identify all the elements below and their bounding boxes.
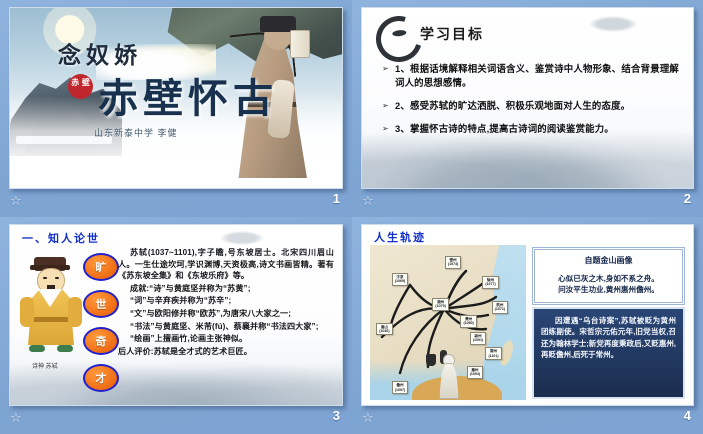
badge-kuang[interactable]: 旷 <box>83 253 119 281</box>
ink-smudge <box>589 16 637 32</box>
map-label[interactable]: 徐州 (1077) <box>482 276 498 289</box>
slide-2-canvas[interactable]: 学习目标 ➢ 1、根据话境解释相关词语含义、鉴赏诗中人物形象、结合背景理解词人的… <box>361 7 694 189</box>
map-year: (1036) <box>379 329 389 333</box>
history-note-box: 因遭遇“乌台诗案”,苏轼被贬为黄州团练副使。宋哲宗元佑元年,旧党当权,召还为翰林… <box>532 307 685 399</box>
bio-achievement-5: “绘画”上擅画竹,论画主张神似。 <box>118 333 334 345</box>
map-year: (1077) <box>485 282 495 286</box>
slide-2-footer: ☆ 2 <box>352 189 703 217</box>
objective-text: 1、根据话境解释相关词语含义、鉴赏诗中人物形象、结合背景理解词人的思想感情。 <box>395 63 679 88</box>
eye-left <box>43 277 47 279</box>
map-label[interactable]: 湖州 (1079) <box>432 298 448 311</box>
map-city: 儋州 <box>396 383 403 387</box>
su-shi-cartoon <box>24 257 78 361</box>
bio-conclusion: 后人评价:苏轼是全才式的艺术巨匠。 <box>118 346 334 358</box>
china-exile-map[interactable]: 汴京 (1069) 密州 (1074) 徐州 (1077) 湖州 (1079) … <box>370 245 526 400</box>
objective-text: 3、掌握怀古诗的特点,提高古诗词的阅读鉴赏能力。 <box>395 123 614 134</box>
map-label[interactable]: 儋州 (1097) <box>392 381 408 394</box>
map-city: 眉山 <box>381 325 388 329</box>
scroll-in-hand <box>290 30 310 58</box>
shoe-left <box>29 345 45 352</box>
slide-4-page-number: 4 <box>684 408 691 423</box>
bullet-arrow-icon: ➢ <box>382 62 389 76</box>
poem-title: 自题金山画像 <box>541 255 676 266</box>
objective-text: 2、感受苏轼的旷达洒脱、积极乐观地面对人生的态度。 <box>395 100 630 111</box>
figure-caption: 诗神 苏轼 <box>32 361 58 370</box>
map-label[interactable]: 密州 (1074) <box>445 256 461 269</box>
slide-2[interactable]: 学习目标 ➢ 1、根据话境解释相关词语含义、鉴赏诗中人物形象、结合背景理解词人的… <box>352 0 703 217</box>
map-city: 黄州 <box>465 317 472 321</box>
bullet-arrow-icon: ➢ <box>382 99 389 113</box>
slide-4[interactable]: 人生轨迹 <box>352 217 703 434</box>
badge-shi[interactable]: 世 <box>83 290 119 318</box>
objectives-list: ➢ 1、根据话境解释相关词语含义、鉴赏诗中人物形象、结合背景理解词人的思想感情。… <box>382 62 679 145</box>
bio-achievement-4: “书法”与黄庭坚、米芾(fú)、蔡襄并称“书法四大家”; <box>118 321 334 333</box>
map-city: 常州 <box>490 349 497 353</box>
list-item: ➢ 2、感受苏轼的旷达洒脱、积极乐观地面对人生的态度。 <box>382 99 679 113</box>
statue-body <box>439 363 459 399</box>
bio-achievement-2: “词”与辛弃疾并称为“苏辛”; <box>118 295 334 307</box>
su-shi-statue <box>438 354 458 398</box>
bullet-arrow-icon: ➢ <box>382 122 389 136</box>
slide-3-canvas[interactable]: 一、知人论世 诗神 苏轼 旷 世 奇 <box>9 224 343 406</box>
title-nian-nu-jiao: 念奴娇 <box>58 36 142 70</box>
map-city: 颍州 <box>474 334 481 338</box>
map-year: (1080) <box>463 321 473 325</box>
slide-1-page-number: 1 <box>333 191 340 206</box>
map-city: 汴京 <box>396 275 403 279</box>
map-label[interactable]: 眉山 (1036) <box>376 323 392 336</box>
map-year: (1071) <box>495 307 505 311</box>
trait-badges: 旷 世 奇 才 <box>83 253 117 401</box>
bio-paragraph: 苏轼(1037~1101),字子瞻,号东坡居士。北宋四川眉山人。一生仕途坎坷,学… <box>118 247 334 282</box>
map-city: 徐州 <box>487 278 494 282</box>
slide-thumbnail-grid: 念奴娇 赤 壁 赤壁怀古 山东新泰中学 李健 ☆ 1 学习目标 ➢ 1、根据话境… <box>0 0 703 434</box>
slide-1-footer: ☆ 1 <box>0 189 352 217</box>
map-city: 密州 <box>449 258 456 262</box>
map-city: 杭州 <box>496 303 503 307</box>
biography-text: 苏轼(1037~1101),字子瞻,号东坡居士。北宋四川眉山人。一生仕途坎坷,学… <box>118 247 334 358</box>
map-label[interactable]: 颍州 (1091) <box>470 332 486 345</box>
poem-line-1: 心似已灰之木,身如不系之舟。 <box>541 273 676 284</box>
slide-4-canvas[interactable]: 人生轨迹 <box>361 224 694 406</box>
map-year: (1101) <box>488 354 498 358</box>
star-icon: ☆ <box>10 194 24 208</box>
shoe-right <box>57 345 73 352</box>
star-icon: ☆ <box>362 194 376 208</box>
map-year: (1091) <box>473 338 483 342</box>
sleeve-left <box>20 297 34 327</box>
map-city: 湖州 <box>437 300 444 304</box>
map-year: (1074) <box>448 262 458 266</box>
list-item: ➢ 1、根据话境解释相关词语含义、鉴赏诗中人物形象、结合背景理解词人的思想感情。 <box>382 62 679 90</box>
slide-3-page-number: 3 <box>333 408 340 423</box>
eye-right <box>55 277 59 279</box>
belt <box>30 317 72 322</box>
list-item: ➢ 3、掌握怀古诗的特点,提高古诗词的阅读鉴赏能力。 <box>382 122 679 136</box>
slide-2-heading: 学习目标 <box>420 24 484 44</box>
history-note-text: 因遭遇“乌台诗案”,苏轼被贬为黄州团练副使。宋哲宗元佑元年,旧党当权,召还为翰林… <box>541 315 676 361</box>
sleeve-right <box>68 297 82 327</box>
map-year: (1069) <box>395 279 405 283</box>
slide-3[interactable]: 一、知人论世 诗神 苏轼 旷 世 奇 <box>0 217 352 434</box>
title-chibi-huaigu: 赤壁怀古 <box>98 66 278 124</box>
poem-line-2: 问汝平生功业,黄州惠州儋州。 <box>541 284 676 295</box>
star-icon: ☆ <box>362 411 376 425</box>
ink-wash-mountains <box>10 355 342 405</box>
slide-3-footer: ☆ 3 <box>0 406 352 434</box>
map-year: (1097) <box>395 388 405 392</box>
map-year: (1079) <box>435 304 445 308</box>
slide-4-footer: ☆ 4 <box>352 406 703 434</box>
ink-smudge <box>220 231 264 245</box>
bio-achievement-1: 成就:“诗”与黄庭坚并称为“苏黄”; <box>118 283 334 295</box>
slide-3-heading: 一、知人论世 <box>22 230 100 246</box>
badge-qi[interactable]: 奇 <box>83 327 119 355</box>
map-year: (1094) <box>470 372 480 376</box>
map-label[interactable]: 汴京 (1069) <box>392 273 408 286</box>
bio-achievement-3: “文”与欧阳修并称“欧苏”,为唐宋八大家之一; <box>118 308 334 320</box>
map-label[interactable]: 黄州 (1080) <box>460 315 476 328</box>
map-label[interactable]: 常州 (1101) <box>485 347 501 360</box>
poem-box: 自题金山画像 心似已灰之木,身如不系之舟。 问汝平生功业,黄州惠州儋州。 <box>532 247 685 305</box>
map-city: 惠州 <box>471 368 478 372</box>
slide-2-page-number: 2 <box>684 191 691 206</box>
slide-1[interactable]: 念奴娇 赤 壁 赤壁怀古 山东新泰中学 李健 ☆ 1 <box>0 0 352 217</box>
map-label[interactable]: 惠州 (1094) <box>467 366 483 379</box>
map-label[interactable]: 杭州 (1071) <box>492 301 508 314</box>
subtitle-author: 山东新泰中学 李健 <box>94 126 178 139</box>
slide-4-heading: 人生轨迹 <box>374 229 426 245</box>
ink-stone <box>426 354 436 366</box>
slide-1-canvas[interactable]: 念奴娇 赤 壁 赤壁怀古 山东新泰中学 李健 <box>9 7 343 189</box>
star-icon: ☆ <box>10 411 24 425</box>
badge-cai[interactable]: 才 <box>83 364 119 392</box>
red-seal: 赤 壁 <box>68 74 93 99</box>
